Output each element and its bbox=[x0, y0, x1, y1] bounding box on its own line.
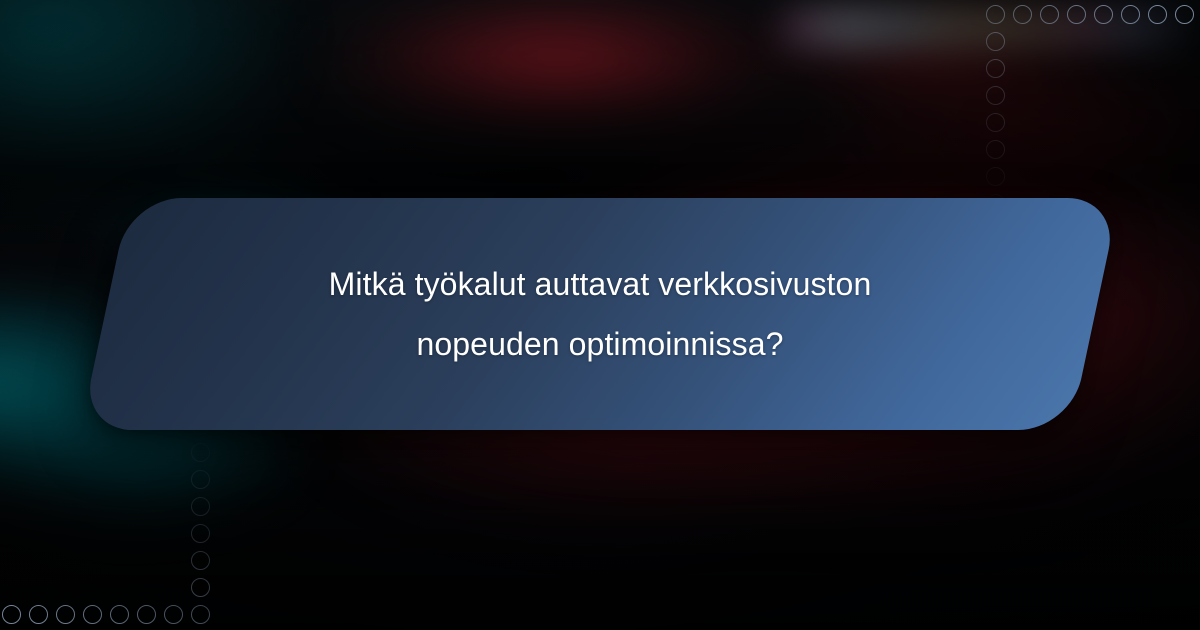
decorative-ring bbox=[191, 524, 210, 543]
decorative-ring bbox=[986, 113, 1005, 132]
decorative-ring bbox=[1175, 5, 1194, 24]
decorative-ring bbox=[191, 497, 210, 516]
decorative-ring bbox=[986, 5, 1005, 24]
decorative-ring bbox=[137, 605, 156, 624]
decorative-ring bbox=[191, 443, 210, 462]
decorative-ring bbox=[56, 605, 75, 624]
decorative-ring bbox=[1094, 5, 1113, 24]
decorative-ring bbox=[1121, 5, 1140, 24]
decorative-ring bbox=[1040, 5, 1059, 24]
decorative-ring bbox=[191, 605, 210, 624]
question-line-2: nopeuden optimoinnissa? bbox=[416, 314, 783, 374]
decorative-ring bbox=[986, 86, 1005, 105]
decorative-ring bbox=[986, 140, 1005, 159]
ring-pattern-top-right bbox=[980, 0, 1200, 230]
decorative-ring bbox=[986, 167, 1005, 186]
question-text-block: Mitkä työkalut auttavat verkkosivuston n… bbox=[105, 198, 1095, 430]
decorative-ring bbox=[191, 578, 210, 597]
decorative-ring bbox=[1067, 5, 1086, 24]
decorative-ring bbox=[83, 605, 102, 624]
decorative-ring bbox=[191, 470, 210, 489]
decorative-ring bbox=[110, 605, 129, 624]
decorative-ring bbox=[29, 605, 48, 624]
decorative-ring bbox=[164, 605, 183, 624]
decorative-ring bbox=[986, 59, 1005, 78]
decorative-ring bbox=[986, 32, 1005, 51]
decorative-ring bbox=[1148, 5, 1167, 24]
slide-canvas: Mitkä työkalut auttavat verkkosivuston n… bbox=[0, 0, 1200, 630]
question-line-1: Mitkä työkalut auttavat verkkosivuston bbox=[329, 254, 872, 314]
ring-pattern-bottom-left bbox=[0, 415, 230, 630]
decorative-ring bbox=[2, 605, 21, 624]
decorative-ring bbox=[1013, 5, 1032, 24]
background-light-streak bbox=[770, 6, 1200, 50]
decorative-ring bbox=[191, 551, 210, 570]
